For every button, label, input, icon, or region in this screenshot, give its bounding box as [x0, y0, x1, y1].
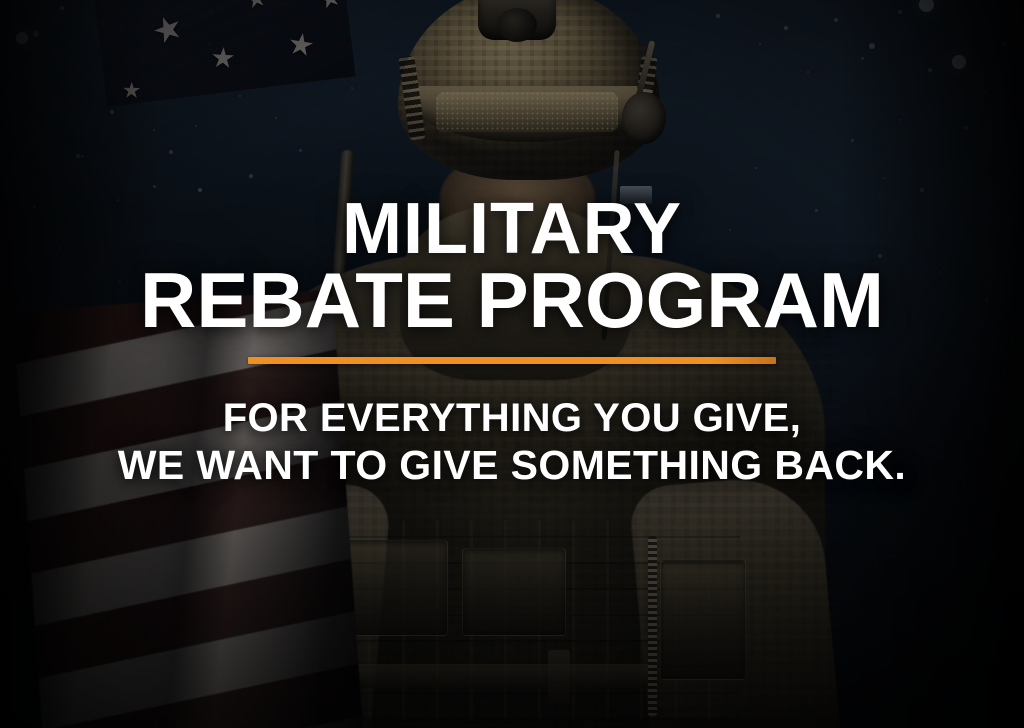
banner-content: MILITARY REBATE PROGRAM FOR EVERYTHING Y…: [0, 0, 1024, 728]
banner-subtitle: FOR EVERYTHING YOU GIVE, WE WANT TO GIVE…: [118, 396, 906, 488]
headline-line-1: MILITARY: [140, 196, 884, 264]
headline-line-2: REBATE PROGRAM: [140, 264, 884, 337]
page-title: MILITARY REBATE PROGRAM: [140, 196, 884, 337]
orange-accent-divider: [248, 357, 776, 364]
subtitle-line-1: FOR EVERYTHING YOU GIVE,: [118, 396, 906, 442]
military-rebate-banner: ★★★★★★★ MILITARY REBATE PROGRAM FOR EVER…: [0, 0, 1024, 728]
subtitle-line-2: WE WANT TO GIVE SOMETHING BACK.: [118, 442, 906, 489]
